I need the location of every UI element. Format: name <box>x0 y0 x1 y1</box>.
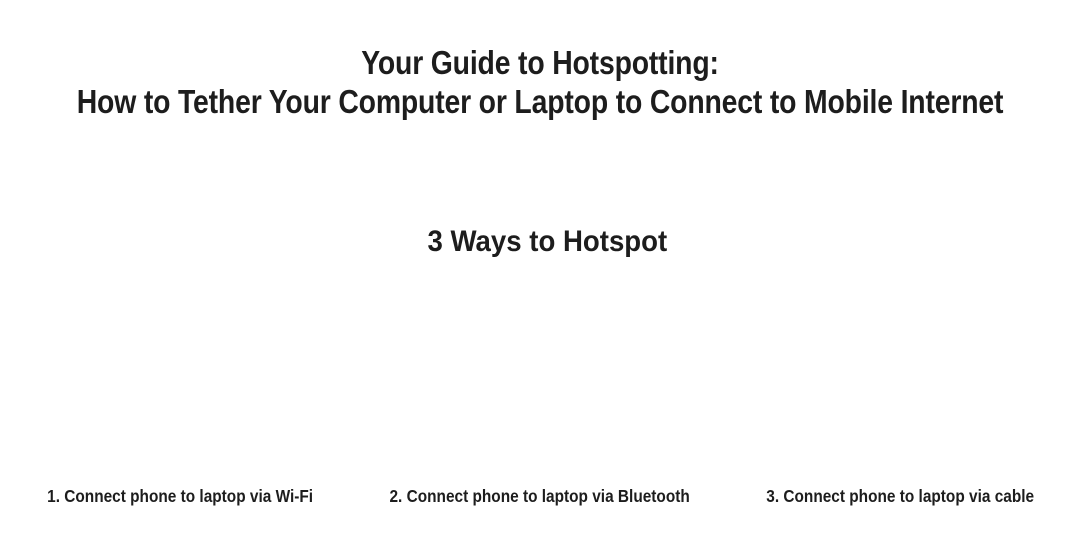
hotspot-bluetooth-illustration <box>360 286 720 476</box>
figure-caption-bluetooth-text: 2. Connect phone to laptop via Bluetooth <box>390 484 690 508</box>
figure-caption-wifi: 1. Connect phone to laptop via Wi-Fi <box>0 484 360 508</box>
hotspot-wifi-illustration <box>0 286 360 476</box>
page-title-line-1: Your Guide to Hotspotting: <box>76 44 1005 82</box>
hotspot-cable-illustration <box>720 286 1080 476</box>
figure-slot-cable <box>720 286 1080 476</box>
section-heading: 3 Ways to Hotspot <box>43 224 1037 260</box>
figure-caption-cable-text: 3. Connect phone to laptop via cable <box>766 484 1034 508</box>
figure-slot-wifi <box>0 286 360 476</box>
figure-caption-bluetooth: 2. Connect phone to laptop via Bluetooth <box>360 484 720 508</box>
figure-caption-cable: 3. Connect phone to laptop via cable <box>720 484 1080 508</box>
article-page: Your Guide to Hotspotting: How to Tether… <box>0 0 1080 552</box>
figure-slot-bluetooth <box>360 286 720 476</box>
figure-caption-wifi-text: 1. Connect phone to laptop via Wi-Fi <box>47 484 313 508</box>
figure-band <box>0 286 1080 476</box>
page-title: Your Guide to Hotspotting: How to Tether… <box>0 44 1080 121</box>
page-title-line-2: How to Tether Your Computer or Laptop to… <box>76 83 1005 121</box>
figure-caption-row: 1. Connect phone to laptop via Wi-Fi 2. … <box>0 484 1080 518</box>
